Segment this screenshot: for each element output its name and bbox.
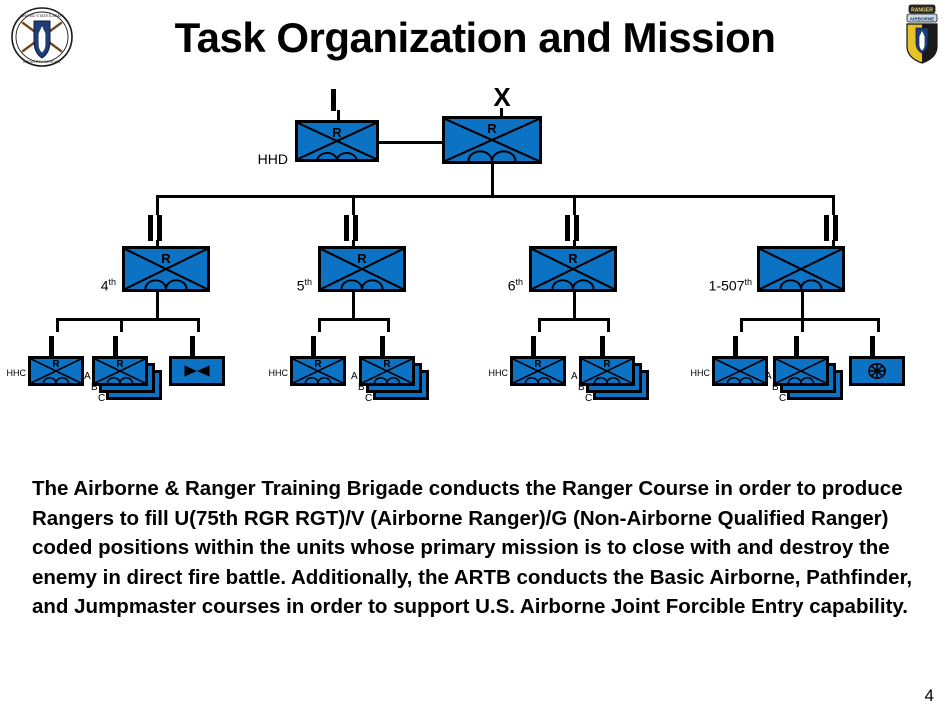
connector-bn4-co3 — [197, 318, 200, 332]
unit-symbol-infantry-airborne — [712, 356, 768, 386]
echelon-mark-bn-5th — [344, 215, 358, 241]
connector-bn1507-co3 — [877, 318, 880, 332]
symbol-inner-letter: R — [293, 360, 343, 370]
unit-label-bn-1507th: 1-507th — [672, 277, 752, 294]
echelon-mark-bn-4th — [148, 215, 162, 241]
svg-text:RANGER: RANGER — [911, 7, 933, 13]
connector-bn1507-co2 — [801, 318, 804, 332]
slide-canvas: UNITED STATES ARMY INFANTRY SCHOOL RANGE… — [0, 0, 950, 712]
symbol-inner-letter: R — [513, 360, 563, 370]
unit-symbol-infantry-airborne — [773, 356, 829, 386]
org-chart: R HHD X R — [0, 80, 950, 450]
connector-bn6-co2 — [607, 318, 610, 332]
connector-bn4-co1 — [56, 318, 59, 332]
connector-bn6-co1 — [538, 318, 541, 332]
stack-label-b-1507th: B — [772, 383, 779, 393]
echelon-mark-bn1507-co3 — [870, 336, 875, 356]
echelon-mark-bn6-co2 — [600, 336, 605, 356]
page-number: 4 — [925, 686, 934, 706]
symbol-inner-letter: R — [298, 126, 376, 139]
stack-label-c-5th: C — [365, 394, 372, 404]
unit-label-hhc-1507th: HHC — [684, 368, 710, 378]
page-title: Task Organization and Mission — [0, 14, 950, 62]
unit-symbol-infantry-airborne: R — [92, 356, 148, 386]
connector-bn-drop-6th — [573, 195, 576, 215]
stack-label-b-6th: B — [578, 383, 585, 393]
echelon-mark-hhd — [331, 89, 336, 111]
connector-bn5-co1 — [318, 318, 321, 332]
connector-bn4-company-bus — [56, 318, 200, 321]
unit-symbol-infantry-airborne: R — [290, 356, 346, 386]
unit-symbol-infantry-airborne — [757, 246, 845, 292]
unit-symbol-infantry-airborne: R — [318, 246, 406, 292]
echelon-mark-bn4-co3 — [190, 336, 195, 356]
stack-label-b-4th: B — [91, 383, 98, 393]
unit-label-bn-6th: 6th — [469, 277, 523, 294]
unit-symbol-infantry-airborne: R — [510, 356, 566, 386]
symbol-inner-letter: R — [95, 360, 145, 370]
symbol-inner-letter: R — [31, 360, 81, 370]
unit-symbol-infantry-airborne: R — [529, 246, 617, 292]
unit-symbol-infantry-airborne: R — [122, 246, 210, 292]
mission-statement: The Airborne & Ranger Training Brigade c… — [32, 474, 922, 622]
echelon-mark-bn4-co2 — [113, 336, 118, 356]
unit-symbol-infantry-airborne: R — [579, 356, 635, 386]
stack-label-a-4th: A — [84, 372, 91, 382]
connector-bn-drop-5th — [352, 195, 355, 215]
unit-label-hhc-6th: HHC — [482, 368, 508, 378]
connector-brigade-drop — [491, 164, 494, 197]
unit-label-bn-5th: 5th — [258, 277, 312, 294]
connector-bn4-drop — [156, 292, 159, 320]
bn-label-suffix: th — [515, 277, 523, 287]
connector-bn1507-drop — [801, 292, 804, 320]
connector-bn5-co2 — [387, 318, 390, 332]
connector-bn1507-company-bus — [740, 318, 880, 321]
bn-label-suffix: th — [304, 277, 312, 287]
connector-bn5-company-bus — [318, 318, 390, 321]
mission-paragraph: The Airborne & Ranger Training Brigade c… — [32, 474, 922, 622]
stack-label-c-1507th: C — [779, 394, 786, 404]
stack-label-a-1507th: A — [765, 372, 772, 382]
symbol-inner-letter: R — [582, 360, 632, 370]
bn-label-text: 1-507 — [709, 278, 745, 294]
connector-bn-drop-1507th — [832, 195, 835, 215]
echelon-mark-bn5-co2 — [380, 336, 385, 356]
echelon-mark-bn1507-co2 — [794, 336, 799, 356]
connector-bn1507-co1 — [740, 318, 743, 332]
connector-bn-drop-4th — [156, 195, 159, 215]
unit-symbol-spoked-wheel — [849, 356, 905, 386]
connector-battalion-bus — [156, 195, 835, 198]
stack-label-a-6th: A — [571, 372, 578, 382]
unit-label-bn-4th: 4th — [62, 277, 116, 294]
unit-symbol-infantry-airborne: R — [28, 356, 84, 386]
unit-label-hhd: HHD — [232, 151, 288, 167]
unit-symbol-infantry-airborne: R — [442, 116, 542, 164]
stack-label-b-5th: B — [358, 383, 365, 393]
echelon-mark-bn-1507th — [824, 215, 838, 241]
symbol-inner-letter: R — [362, 360, 412, 370]
bn-label-suffix: th — [108, 277, 116, 287]
symbol-inner-letter: R — [321, 252, 403, 265]
stack-label-a-5th: A — [351, 372, 358, 382]
symbol-inner-letter: R — [125, 252, 207, 265]
unit-label-hhc-4th: HHC — [0, 368, 26, 378]
connector-bn6-company-bus — [538, 318, 610, 321]
symbol-inner-letter: R — [532, 252, 614, 265]
unit-symbol-infantry-airborne: R — [295, 120, 379, 162]
bn-label-suffix: th — [744, 277, 752, 287]
connector-bn6-drop — [573, 292, 576, 320]
connector-bn5-drop — [352, 292, 355, 320]
connector-hhd-to-brigade — [379, 141, 442, 144]
symbol-inner-letter: R — [445, 122, 539, 135]
echelon-mark-bn6-co1 — [531, 336, 536, 356]
echelon-mark-bn4-co1 — [49, 336, 54, 356]
echelon-mark-bn-6th — [565, 215, 579, 241]
unit-symbol-bowtie — [169, 356, 225, 386]
stack-label-c-4th: C — [98, 394, 105, 404]
unit-symbol-infantry-airborne: R — [359, 356, 415, 386]
echelon-mark-bn5-co1 — [311, 336, 316, 356]
echelon-mark-brigade: X — [462, 84, 542, 110]
unit-label-hhc-5th: HHC — [262, 368, 288, 378]
echelon-mark-bn1507-co1 — [733, 336, 738, 356]
stack-label-c-6th: C — [585, 394, 592, 404]
connector-bn4-co2 — [120, 318, 123, 332]
